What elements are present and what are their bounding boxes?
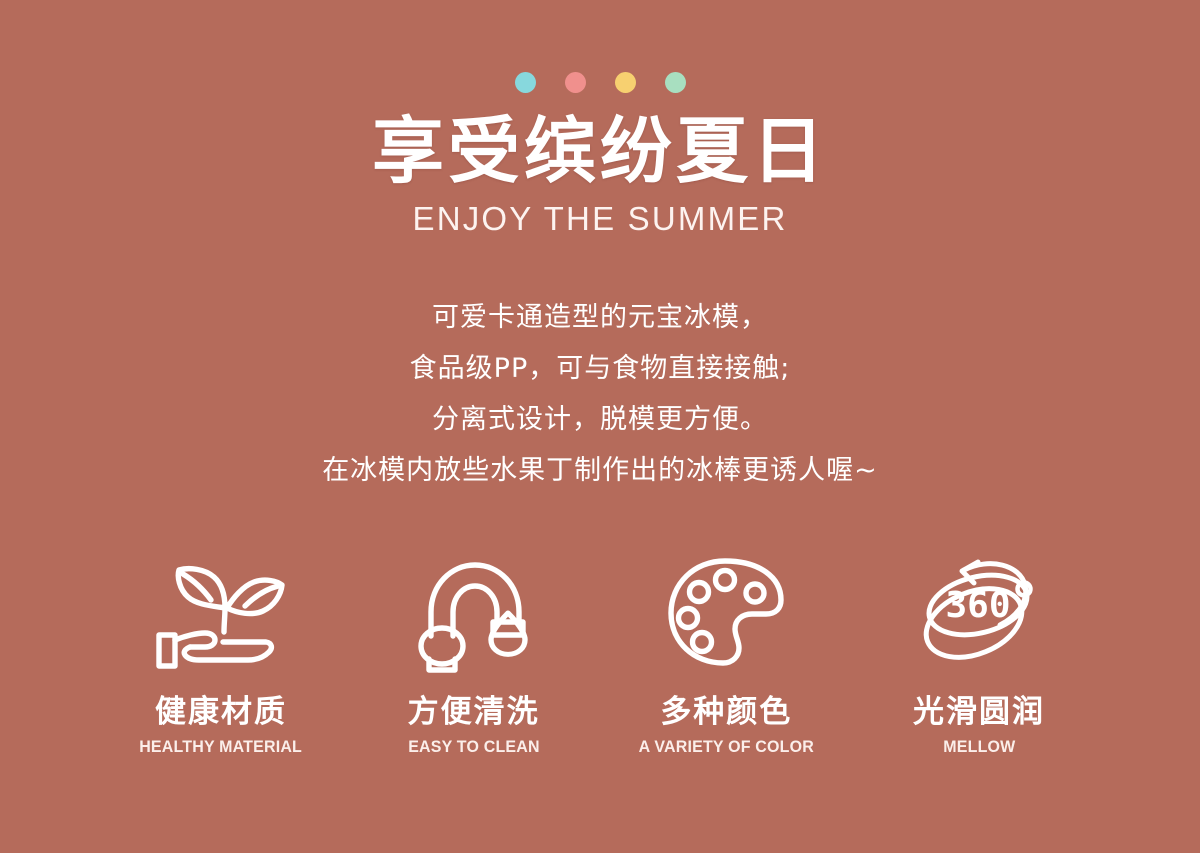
page-subtitle-en: ENJOY THE SUMMER bbox=[0, 198, 1200, 240]
feature-item-easy-to-clean: 方便清洗 EASY TO CLEAN bbox=[348, 552, 600, 757]
feature-subtitle: MELLOW bbox=[943, 737, 1015, 757]
description-block: 可爱卡通造型的元宝冰模， 食品级PP，可与食物直接接触; 分离式设计，脱模更方便… bbox=[0, 292, 1200, 496]
feature-title: 健康材质 bbox=[155, 694, 287, 730]
paint-palette-icon bbox=[667, 552, 785, 672]
feature-title: 多种颜色 bbox=[660, 694, 792, 730]
description-line-2: 食品级PP，可与食物直接接触; bbox=[0, 343, 1200, 394]
feature-subtitle: A VARIETY OF COLOR bbox=[639, 737, 814, 757]
feature-item-healthy-material: 健康材质 HEALTHY MATERIAL bbox=[95, 552, 347, 757]
dot-mint-icon bbox=[665, 72, 686, 93]
headline-block: 享受缤纷夏日 ENJOY THE SUMMER bbox=[0, 110, 1200, 240]
dot-yellow-icon bbox=[615, 72, 636, 93]
feature-list: 健康材质 HEALTHY MATERIAL bbox=[95, 552, 1105, 757]
rotate-360-icon: 360 bbox=[912, 552, 1046, 672]
decorative-dot-row bbox=[0, 72, 1200, 93]
description-line-3: 分离式设计，脱模更方便。 bbox=[0, 394, 1200, 445]
feature-item-mellow: 360 光滑圆润 MELLOW bbox=[853, 552, 1105, 757]
hand-sprout-icon bbox=[153, 552, 289, 672]
page-title-cn: 享受缤纷夏日 bbox=[0, 110, 1200, 192]
dot-cyan-icon bbox=[515, 72, 536, 93]
feature-item-variety-of-color: 多种颜色 A VARIETY OF COLOR bbox=[600, 552, 852, 757]
feature-subtitle: EASY TO CLEAN bbox=[408, 737, 539, 757]
promo-banner: 享受缤纷夏日 ENJOY THE SUMMER 可爱卡通造型的元宝冰模， 食品级… bbox=[0, 0, 1200, 853]
feature-title: 方便清洗 bbox=[408, 694, 540, 730]
feature-title: 光滑圆润 bbox=[913, 694, 1045, 730]
dot-pink-icon bbox=[565, 72, 586, 93]
rotate-360-label: 360 bbox=[945, 585, 1010, 626]
feature-subtitle: HEALTHY MATERIAL bbox=[140, 737, 303, 757]
faucet-drop-icon bbox=[413, 552, 535, 672]
description-line-4: 在冰模内放些水果丁制作出的冰棒更诱人喔~ bbox=[0, 445, 1200, 496]
description-line-1: 可爱卡通造型的元宝冰模， bbox=[0, 292, 1200, 343]
